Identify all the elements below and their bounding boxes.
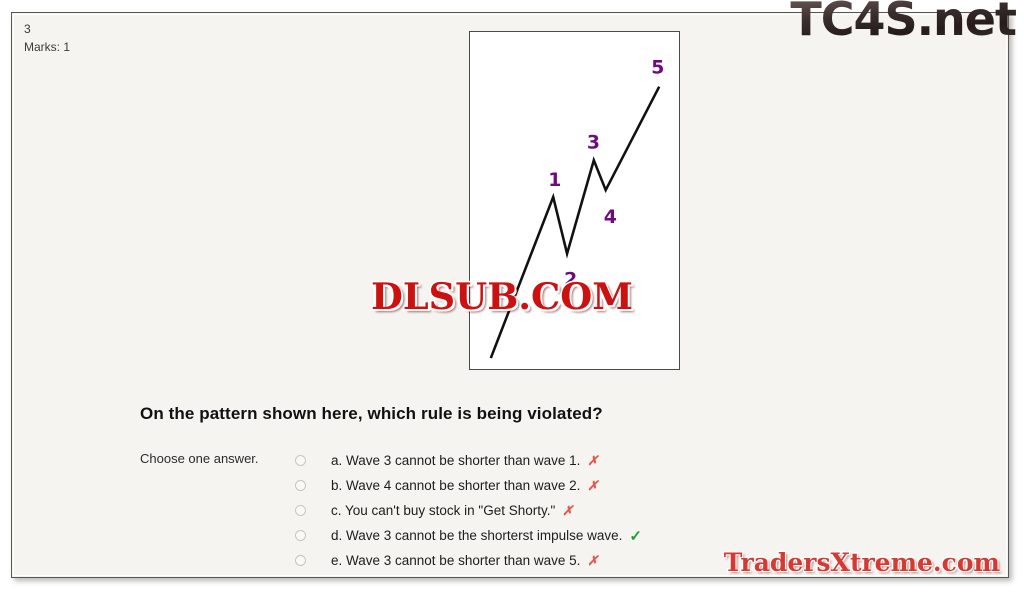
question-marks: Marks: 1 bbox=[24, 38, 70, 56]
question-stem: On the pattern shown here, which rule is… bbox=[140, 404, 603, 424]
answer-label: d. Wave 3 cannot be the shorterst impuls… bbox=[331, 528, 622, 543]
radio-button-b[interactable] bbox=[295, 480, 306, 491]
wave-label-3: 3 bbox=[587, 132, 600, 153]
answer-label: b. Wave 4 cannot be shorter than wave 2. bbox=[331, 478, 580, 493]
question-meta: 3 Marks: 1 bbox=[24, 20, 70, 56]
radio-button-d[interactable] bbox=[295, 530, 306, 541]
wave-label-group: 12345 bbox=[548, 58, 664, 291]
wrong-cross-icon: ✗ bbox=[587, 453, 598, 469]
wave-polyline bbox=[491, 87, 659, 358]
elliott-wave-chart: 12345 bbox=[470, 32, 679, 369]
wave-label-2: 2 bbox=[564, 269, 577, 290]
answer-option-b[interactable]: b. Wave 4 cannot be shorter than wave 2.… bbox=[295, 473, 642, 498]
answer-option-d[interactable]: d. Wave 3 cannot be the shorterst impuls… bbox=[295, 523, 642, 548]
answer-label: c. You can't buy stock in "Get Shorty." bbox=[331, 503, 555, 518]
choose-one-answer-label: Choose one answer. bbox=[140, 451, 259, 466]
question-number: 3 bbox=[24, 20, 70, 38]
elliott-wave-figure: 12345 bbox=[469, 31, 680, 370]
radio-button-a[interactable] bbox=[295, 455, 306, 466]
quiz-question-frame: 3 Marks: 1 12345 On the pattern shown he… bbox=[11, 12, 1009, 578]
wrong-cross-icon: ✗ bbox=[587, 553, 598, 569]
radio-button-c[interactable] bbox=[295, 505, 306, 516]
page-root: 3 Marks: 1 12345 On the pattern shown he… bbox=[0, 0, 1024, 605]
answer-option-a[interactable]: a. Wave 3 cannot be shorter than wave 1.… bbox=[295, 448, 642, 473]
correct-check-icon: ✓ bbox=[629, 527, 642, 545]
wrong-cross-icon: ✗ bbox=[562, 503, 573, 519]
wave-label-5: 5 bbox=[651, 58, 664, 79]
answer-list: a. Wave 3 cannot be shorter than wave 1.… bbox=[295, 448, 642, 573]
wave-label-4: 4 bbox=[604, 207, 617, 228]
wrong-cross-icon: ✗ bbox=[587, 478, 598, 494]
answer-label: e. Wave 3 cannot be shorter than wave 5. bbox=[331, 553, 580, 568]
radio-button-e[interactable] bbox=[295, 555, 306, 566]
answer-option-c[interactable]: c. You can't buy stock in "Get Shorty."✗ bbox=[295, 498, 642, 523]
answer-label: a. Wave 3 cannot be shorter than wave 1. bbox=[331, 453, 580, 468]
watermark-tradersxtreme: TradersXtreme.com bbox=[724, 550, 1000, 575]
answer-option-e[interactable]: e. Wave 3 cannot be shorter than wave 5.… bbox=[295, 548, 642, 573]
wave-label-1: 1 bbox=[548, 170, 561, 191]
